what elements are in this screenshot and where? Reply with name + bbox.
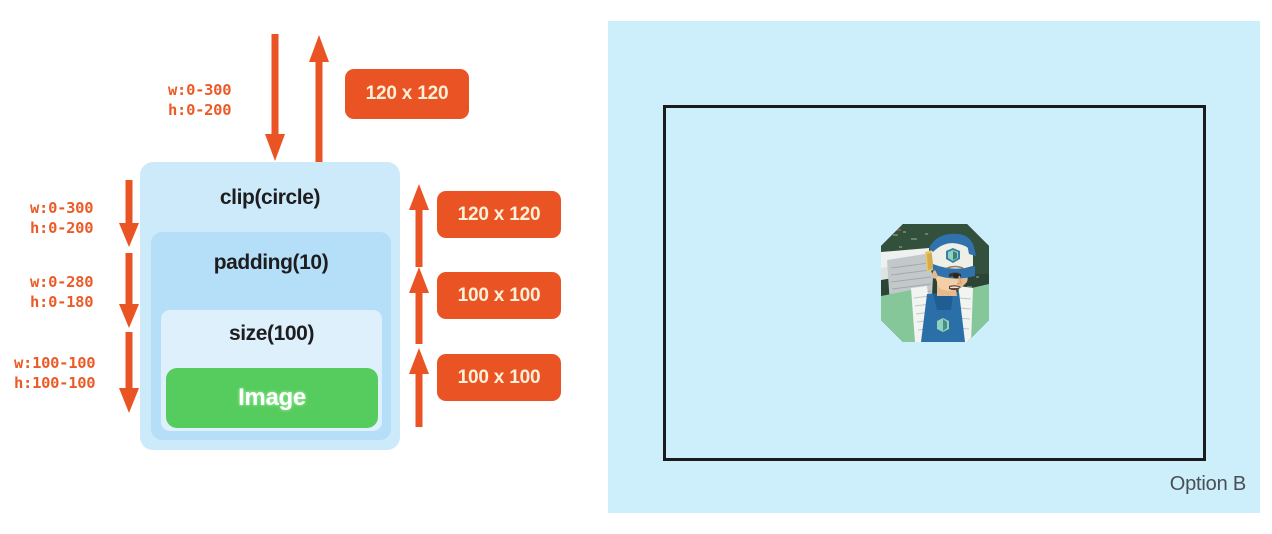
badge-size-image: 100 x 100 (437, 354, 561, 401)
constraint-height-padding: h:0-180 (30, 293, 93, 311)
constraint-width-clip: w:0-300 (30, 199, 93, 217)
arrow-down-top (265, 34, 285, 162)
box-clip-label: clip(circle) (140, 186, 400, 210)
layout-constraint-diagram: w:0-300 h:0-200 120 x 120 clip(circle) p… (0, 0, 600, 534)
badge-size-padding: 100 x 100 (437, 272, 561, 319)
option-preview-panel: Option B (608, 21, 1260, 513)
constraint-height-top: h:0-200 (168, 101, 231, 119)
constraint-width-padding: w:0-280 (30, 273, 93, 291)
badge-size-label: 100 x 100 (458, 367, 541, 389)
arrow-up-clip (409, 183, 429, 267)
constraint-width-size: w:100-100 (14, 354, 95, 372)
constraint-height-clip: h:0-200 (30, 219, 93, 237)
arrow-up-top (309, 34, 329, 162)
option-frame-border (663, 105, 1206, 461)
box-padding-label: padding(10) (151, 251, 391, 275)
constraint-label-clip: w:0-300 h:0-200 (30, 198, 93, 239)
constraint-height-size: h:100-100 (14, 374, 95, 392)
constraint-label-padding: w:0-280 h:0-180 (30, 272, 93, 313)
option-caption: Option B (1170, 473, 1246, 496)
box-size-label: size(100) (161, 322, 382, 346)
clipped-avatar-image (881, 224, 989, 342)
badge-padding-label: 100 x 100 (458, 285, 541, 307)
constraint-label-top: w:0-300 h:0-200 (168, 80, 231, 121)
arrow-down-clip (119, 180, 139, 248)
badge-size-top: 120 x 120 (345, 69, 469, 119)
badge-clip-label: 120 x 120 (458, 204, 541, 226)
constraint-label-size: w:100-100 h:100-100 (14, 353, 95, 394)
badge-top-label: 120 x 120 (366, 83, 449, 105)
arrow-up-padding (409, 266, 429, 344)
arrow-up-size (409, 347, 429, 427)
box-image-label: Image (238, 384, 306, 412)
arrow-down-padding (119, 253, 139, 329)
constraint-width-top: w:0-300 (168, 81, 231, 99)
badge-size-clip: 120 x 120 (437, 191, 561, 238)
box-image: Image (166, 368, 378, 428)
arrow-down-size (119, 332, 139, 414)
